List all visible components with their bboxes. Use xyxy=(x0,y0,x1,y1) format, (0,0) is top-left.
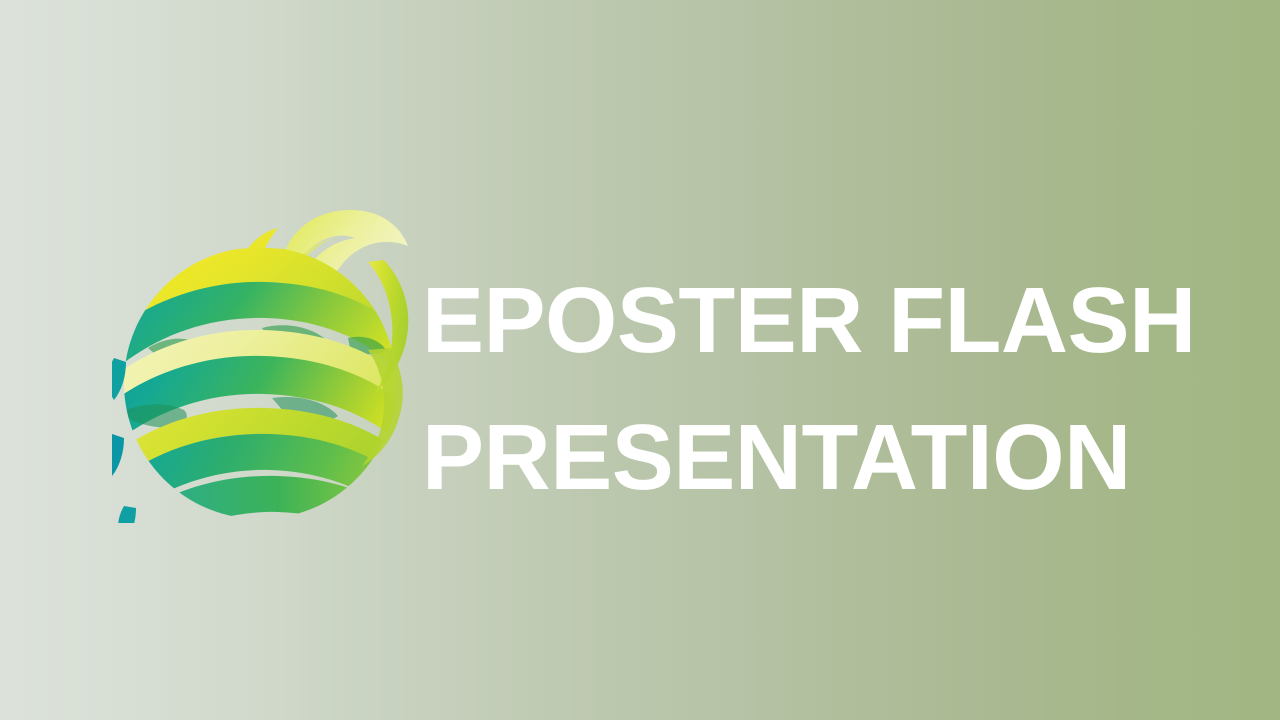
slide-title: EPOSTER FLASH PRESENTATION xyxy=(422,252,1222,526)
title-line-2: PRESENTATION xyxy=(422,389,1222,526)
title-line-1: EPOSTER FLASH xyxy=(422,252,1222,389)
globe-ribbon-logo xyxy=(112,198,412,523)
ribbon-band xyxy=(112,476,412,523)
presentation-slide: EPOSTER FLASH PRESENTATION xyxy=(0,0,1280,720)
